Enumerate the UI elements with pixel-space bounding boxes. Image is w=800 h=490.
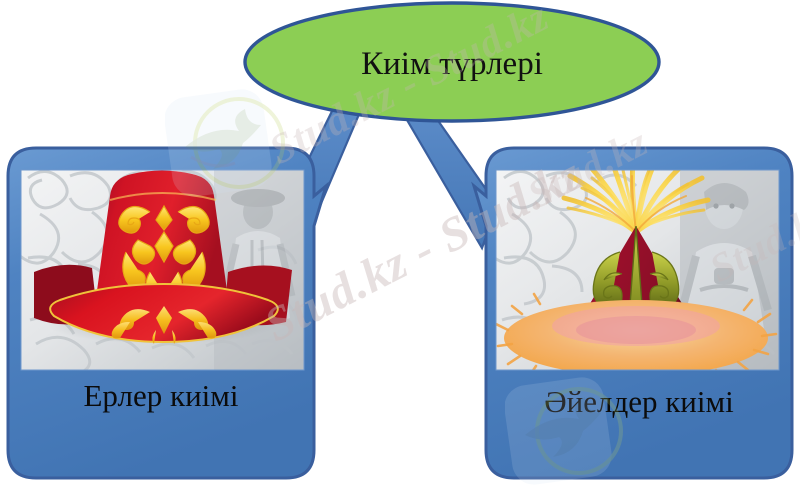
card-womens-clothing[interactable]: Әйелдер киімі [474,148,792,478]
mens-hat-image [20,170,304,374]
page-title: Киім түрлері [361,46,543,82]
title-node[interactable]: Киім түрлері [245,3,659,121]
connector-title-to-womens [400,102,497,248]
womens-hat-image [492,150,779,391]
card-label-womens: Әйелдер киімі [544,384,734,419]
diagram-canvas: Ерлер киімі [0,0,800,485]
card-label-mens: Ерлер киімі [84,378,239,413]
clothing-types-diagram: Ерлер киімі [0,0,800,485]
card-mens-clothing[interactable]: Ерлер киімі [8,148,326,478]
